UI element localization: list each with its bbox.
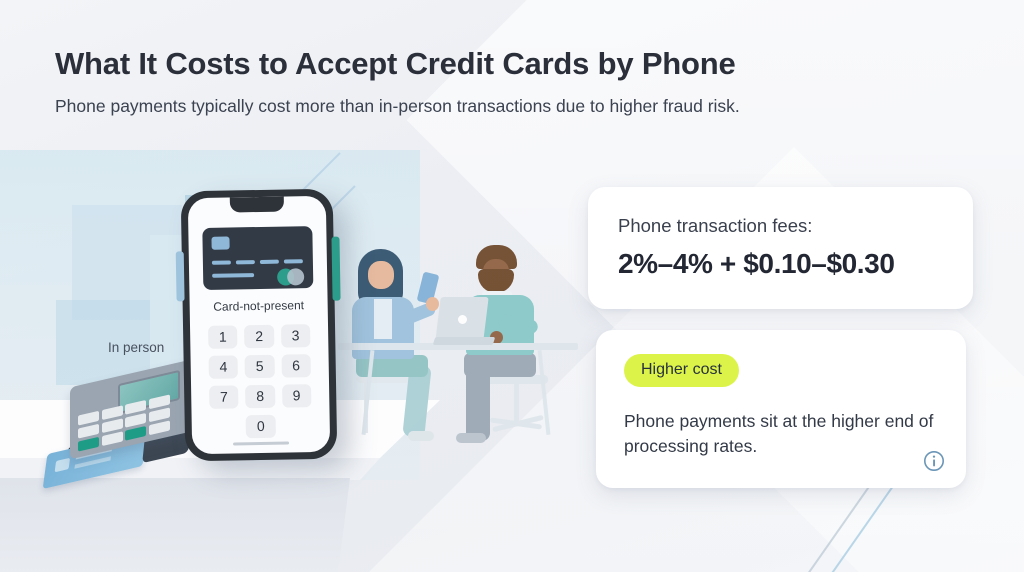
keypad-key-1[interactable]: 1 (208, 325, 238, 349)
fees-card: Phone transaction fees: 2%–4% + $0.10–$0… (588, 187, 973, 309)
keypad-key-6[interactable]: 6 (281, 354, 311, 378)
phone-home-indicator (233, 441, 289, 445)
keypad-key-5[interactable]: 5 (245, 355, 275, 379)
in-person-label: In person (108, 340, 164, 355)
info-icon[interactable] (922, 449, 946, 473)
man-leg (466, 367, 490, 441)
card-number-dash (236, 260, 255, 264)
note-card-text: Phone payments sit at the higher end of … (624, 409, 938, 459)
laptop-base (433, 337, 496, 345)
keypad-key-2[interactable]: 2 (244, 325, 274, 349)
credit-card-graphic (202, 226, 313, 290)
fees-card-label: Phone transaction fees: (618, 215, 943, 237)
laptop-logo-icon (458, 315, 467, 324)
card-number-dash (284, 259, 303, 263)
woman-shoe (408, 431, 434, 441)
phone-side-accent-teal (331, 237, 340, 301)
desk-shadow (0, 478, 360, 572)
keypad-key-4[interactable]: 4 (209, 355, 239, 379)
infographic-canvas: What It Costs to Accept Credit Cards by … (0, 0, 1024, 572)
card-number-dash (260, 260, 279, 264)
office-desk-leg-2 (538, 350, 551, 435)
card-brand-circle-2 (287, 268, 304, 285)
phone-notch (230, 197, 284, 213)
man-beard (478, 269, 514, 293)
keypad-key-9[interactable]: 9 (282, 384, 312, 408)
fees-card-value: 2%–4% + $0.10–$0.30 (618, 248, 943, 280)
page-subtitle: Phone payments typically cost more than … (55, 95, 955, 118)
chair-right-post (514, 383, 519, 423)
header: What It Costs to Accept Credit Cards by … (55, 46, 955, 117)
man-lap (464, 353, 536, 377)
woman-shirt (374, 299, 392, 339)
note-card: Higher cost Phone payments sit at the hi… (596, 330, 966, 488)
card-number-dash (212, 260, 231, 264)
page-title: What It Costs to Accept Credit Cards by … (55, 46, 955, 82)
people-illustration (330, 225, 585, 455)
keypad-key-0[interactable]: 0 (246, 415, 276, 439)
status-badge: Higher cost (624, 354, 739, 387)
phone-screen: Card-not-present 1 2 3 4 5 6 7 8 9 0 (188, 196, 330, 454)
keypad-key-3[interactable]: 3 (281, 324, 311, 348)
keypad-key-8[interactable]: 8 (245, 385, 275, 409)
phone-keypad: 1 2 3 4 5 6 7 8 9 0 (208, 324, 312, 439)
card-chip-icon (211, 237, 229, 250)
keypad-key-7[interactable]: 7 (209, 385, 239, 409)
card-not-present-label: Card-not-present (190, 298, 328, 314)
man-shoe (456, 433, 486, 443)
woman-face (368, 261, 394, 289)
woman-hand (426, 297, 439, 311)
phone-side-accent-blue (176, 251, 185, 301)
card-name-line (212, 273, 254, 278)
smartphone-illustration: Card-not-present 1 2 3 4 5 6 7 8 9 0 (181, 189, 338, 462)
